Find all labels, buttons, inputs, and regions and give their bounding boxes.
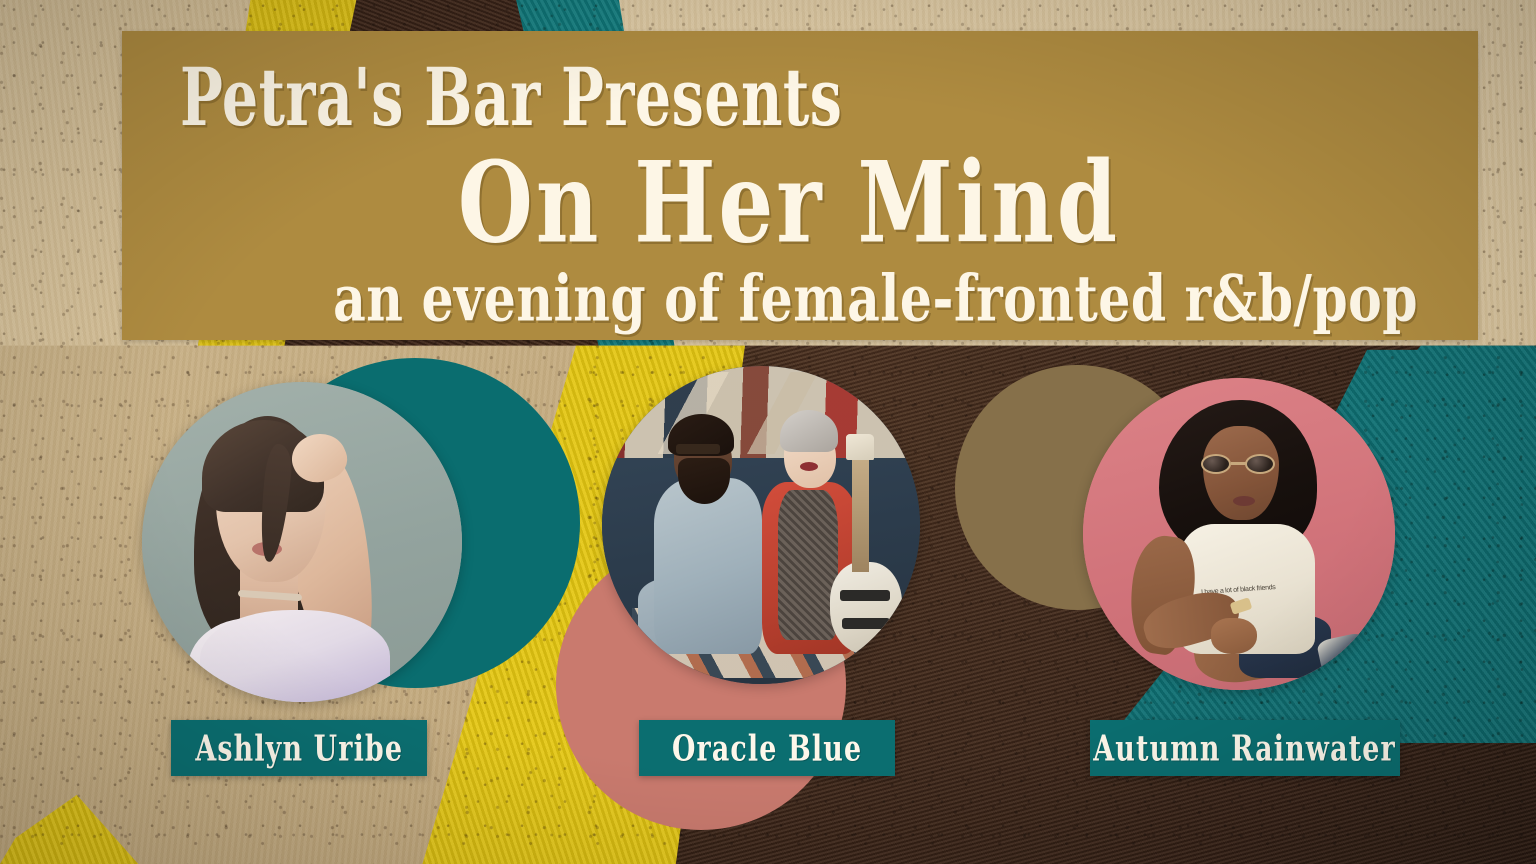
artist-photo-oracle-blue [602, 366, 920, 684]
artist-name-label: Ashlyn Uribe [195, 727, 403, 769]
artist-nameplate-oracle-blue[interactable]: Oracle Blue [639, 720, 895, 776]
guitar-bridge-shape [842, 618, 890, 629]
man-suit-shape [654, 478, 762, 654]
subtitle: an evening of female-fronted r&b/pop [190, 268, 1418, 331]
presenter-line: Petra's Bar Presents [180, 57, 1326, 138]
artist-photo-ashlyn-uribe [142, 382, 462, 702]
page-title: On Her Mind [152, 148, 1426, 260]
guitar-headstock-shape [846, 434, 874, 460]
artist-name-label: Autumn Rainwater [1094, 727, 1397, 769]
strapless-top-shape [200, 610, 390, 702]
guitar-body-shape [830, 562, 902, 654]
artist-photo-autumn-rainwater: I have a lot of black friends [1083, 378, 1395, 690]
sunglass-lens-left [1201, 454, 1231, 474]
guitar-neck-shape [852, 448, 869, 572]
event-poster: Petra's Bar Presents On Her Mind an even… [0, 0, 1536, 864]
artist-name-label: Oracle Blue [672, 727, 862, 769]
sunglasses-icon [1201, 454, 1281, 474]
artist-nameplate-ashlyn-uribe[interactable]: Ashlyn Uribe [171, 720, 427, 776]
hand-shape [1211, 618, 1257, 654]
man-glasses-shape [676, 444, 720, 454]
header-banner: Petra's Bar Presents On Her Mind an even… [122, 31, 1478, 340]
woman-lips-shape [800, 462, 818, 471]
woman-knit-vest-shape [778, 490, 838, 640]
guitar-pickup-shape [840, 590, 890, 601]
sunglass-lens-right [1245, 454, 1275, 474]
artist-nameplate-autumn-rainwater[interactable]: Autumn Rainwater [1090, 720, 1400, 776]
lips-shape [1233, 496, 1255, 506]
